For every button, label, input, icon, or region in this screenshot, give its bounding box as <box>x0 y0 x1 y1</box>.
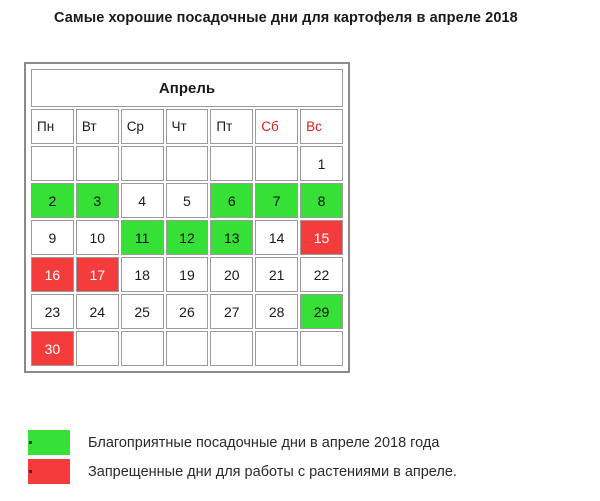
calendar-day-empty <box>210 331 253 366</box>
calendar-week-row: 16171819202122 <box>31 257 343 292</box>
calendar-day-13[interactable]: 13 <box>210 220 253 255</box>
calendar-weekday-row: ПнВтСрЧтПтСбВс <box>31 109 343 144</box>
calendar-day-2[interactable]: 2 <box>31 183 74 218</box>
calendar-day-6[interactable]: 6 <box>210 183 253 218</box>
legend-label-good: Благоприятные посадочные дни в апреле 20… <box>88 433 439 453</box>
calendar-day-empty <box>166 146 209 181</box>
calendar-day-18[interactable]: 18 <box>121 257 164 292</box>
calendar-weekday-вс: Вс <box>300 109 343 144</box>
calendar-day-25[interactable]: 25 <box>121 294 164 329</box>
calendar-day-12[interactable]: 12 <box>166 220 209 255</box>
calendar-day-22[interactable]: 22 <box>300 257 343 292</box>
calendar-day-16[interactable]: 16 <box>31 257 74 292</box>
calendar-day-21[interactable]: 21 <box>255 257 298 292</box>
calendar-week-row: 23242526272829 <box>31 294 343 329</box>
calendar-day-11[interactable]: 11 <box>121 220 164 255</box>
calendar-week-row: 1 <box>31 146 343 181</box>
legend-swatch-bad <box>28 459 70 484</box>
calendar-day-17[interactable]: 17 <box>76 257 119 292</box>
calendar-day-15[interactable]: 15 <box>300 220 343 255</box>
calendar-week-row: 30 <box>31 331 343 366</box>
calendar-day-empty <box>121 146 164 181</box>
calendar-day-23[interactable]: 23 <box>31 294 74 329</box>
calendar-body: Апрель ПнВтСрЧтПтСбВс 123456789101112131… <box>31 69 343 366</box>
calendar-day-empty <box>121 331 164 366</box>
calendar-day-empty <box>166 331 209 366</box>
calendar-container: Апрель ПнВтСрЧтПтСбВс 123456789101112131… <box>24 62 350 373</box>
legend-item-good: Благоприятные посадочные дни в апреле 20… <box>28 428 573 457</box>
calendar-day-20[interactable]: 20 <box>210 257 253 292</box>
calendar-day-empty <box>255 331 298 366</box>
calendar-day-28[interactable]: 28 <box>255 294 298 329</box>
calendar-day-5[interactable]: 5 <box>166 183 209 218</box>
calendar-weekday-пт: Пт <box>210 109 253 144</box>
calendar-day-empty <box>300 331 343 366</box>
calendar-day-1[interactable]: 1 <box>300 146 343 181</box>
calendar-day-30[interactable]: 30 <box>31 331 74 366</box>
calendar-week-row: 2345678 <box>31 183 343 218</box>
calendar-week-row: 9101112131415 <box>31 220 343 255</box>
calendar-day-empty <box>76 146 119 181</box>
legend: Благоприятные посадочные дни в апреле 20… <box>28 428 573 486</box>
legend-item-bad: Запрещенные дни для работы с растениями … <box>28 457 573 486</box>
calendar-day-empty <box>210 146 253 181</box>
calendar-day-19[interactable]: 19 <box>166 257 209 292</box>
calendar-day-8[interactable]: 8 <box>300 183 343 218</box>
calendar-month-row: Апрель <box>31 69 343 107</box>
calendar-day-empty <box>255 146 298 181</box>
calendar-table: Апрель ПнВтСрЧтПтСбВс 123456789101112131… <box>29 67 345 368</box>
legend-bullet-icon <box>29 470 32 473</box>
legend-bullet-icon <box>29 441 32 444</box>
calendar-day-27[interactable]: 27 <box>210 294 253 329</box>
calendar-weekday-вт: Вт <box>76 109 119 144</box>
calendar-day-empty <box>31 146 74 181</box>
calendar-day-14[interactable]: 14 <box>255 220 298 255</box>
legend-swatch-good <box>28 430 70 455</box>
calendar-weekday-ср: Ср <box>121 109 164 144</box>
calendar-day-3[interactable]: 3 <box>76 183 119 218</box>
page-title: Самые хорошие посадочные дни для картофе… <box>28 8 558 28</box>
calendar-day-9[interactable]: 9 <box>31 220 74 255</box>
calendar-day-empty <box>76 331 119 366</box>
calendar-day-7[interactable]: 7 <box>255 183 298 218</box>
calendar-day-4[interactable]: 4 <box>121 183 164 218</box>
legend-label-bad: Запрещенные дни для работы с растениями … <box>88 462 457 482</box>
calendar-weekday-сб: Сб <box>255 109 298 144</box>
calendar-weekday-пн: Пн <box>31 109 74 144</box>
calendar-day-29[interactable]: 29 <box>300 294 343 329</box>
calendar-day-10[interactable]: 10 <box>76 220 119 255</box>
calendar-day-24[interactable]: 24 <box>76 294 119 329</box>
calendar-weekday-чт: Чт <box>166 109 209 144</box>
calendar-day-26[interactable]: 26 <box>166 294 209 329</box>
calendar-month-title: Апрель <box>31 69 343 107</box>
